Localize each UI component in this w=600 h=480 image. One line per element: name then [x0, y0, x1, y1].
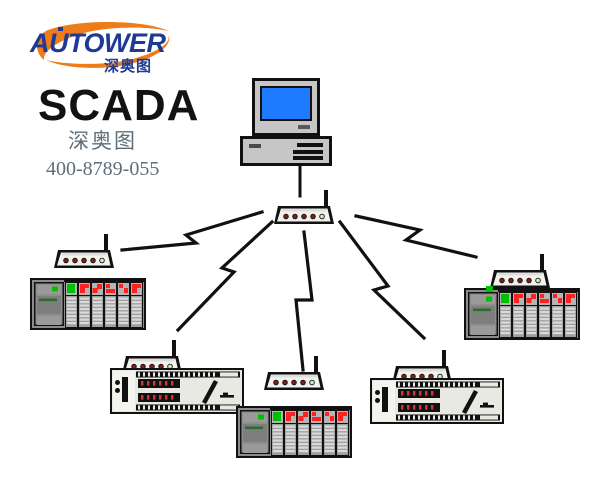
link-central-to-site-bottom-right — [340, 222, 424, 338]
link-central-to-site-left — [122, 212, 262, 250]
tower-drive-bay-3 — [293, 156, 323, 160]
network-topology-svg — [0, 0, 600, 480]
link-central-to-site-bottom-center — [296, 232, 312, 370]
link-central-to-site-right — [356, 216, 476, 257]
wireless-links — [122, 166, 476, 370]
scada-host-computer[interactable] — [240, 78, 332, 166]
router-site-bottom-center[interactable] — [264, 356, 324, 390]
site-bottom-right — [370, 350, 504, 424]
controller-bottom-left[interactable] — [110, 368, 244, 414]
plc-rack-right[interactable] — [464, 288, 580, 340]
site-right — [464, 254, 580, 340]
site-bottom-center — [236, 356, 352, 458]
router-site-left[interactable] — [54, 234, 114, 268]
site-bottom-left — [110, 340, 244, 414]
tower-drive-bay-2 — [293, 150, 323, 154]
central-wireless-router[interactable] — [274, 190, 334, 224]
monitor-screen[interactable] — [262, 88, 310, 119]
tower-power-slot — [249, 144, 261, 148]
controller-panel — [370, 378, 504, 424]
plc-right-power-led — [486, 286, 493, 292]
controller-panel — [110, 368, 244, 414]
plc-rack-left[interactable] — [30, 278, 146, 330]
monitor-control-strip — [298, 125, 310, 129]
router-site-right[interactable] — [490, 254, 550, 288]
tower-drive-bay-1 — [297, 143, 323, 147]
plc-io-modules — [271, 410, 349, 456]
diagram-canvas: AUTOWER 深奥图 SCADA 深奥图 400-8789-055 — [0, 0, 600, 480]
controller-bottom-right[interactable] — [370, 378, 504, 424]
plc-io-modules — [65, 282, 143, 328]
plc-rack-bottom-center[interactable] — [236, 406, 352, 458]
plc-io-modules — [499, 292, 577, 338]
